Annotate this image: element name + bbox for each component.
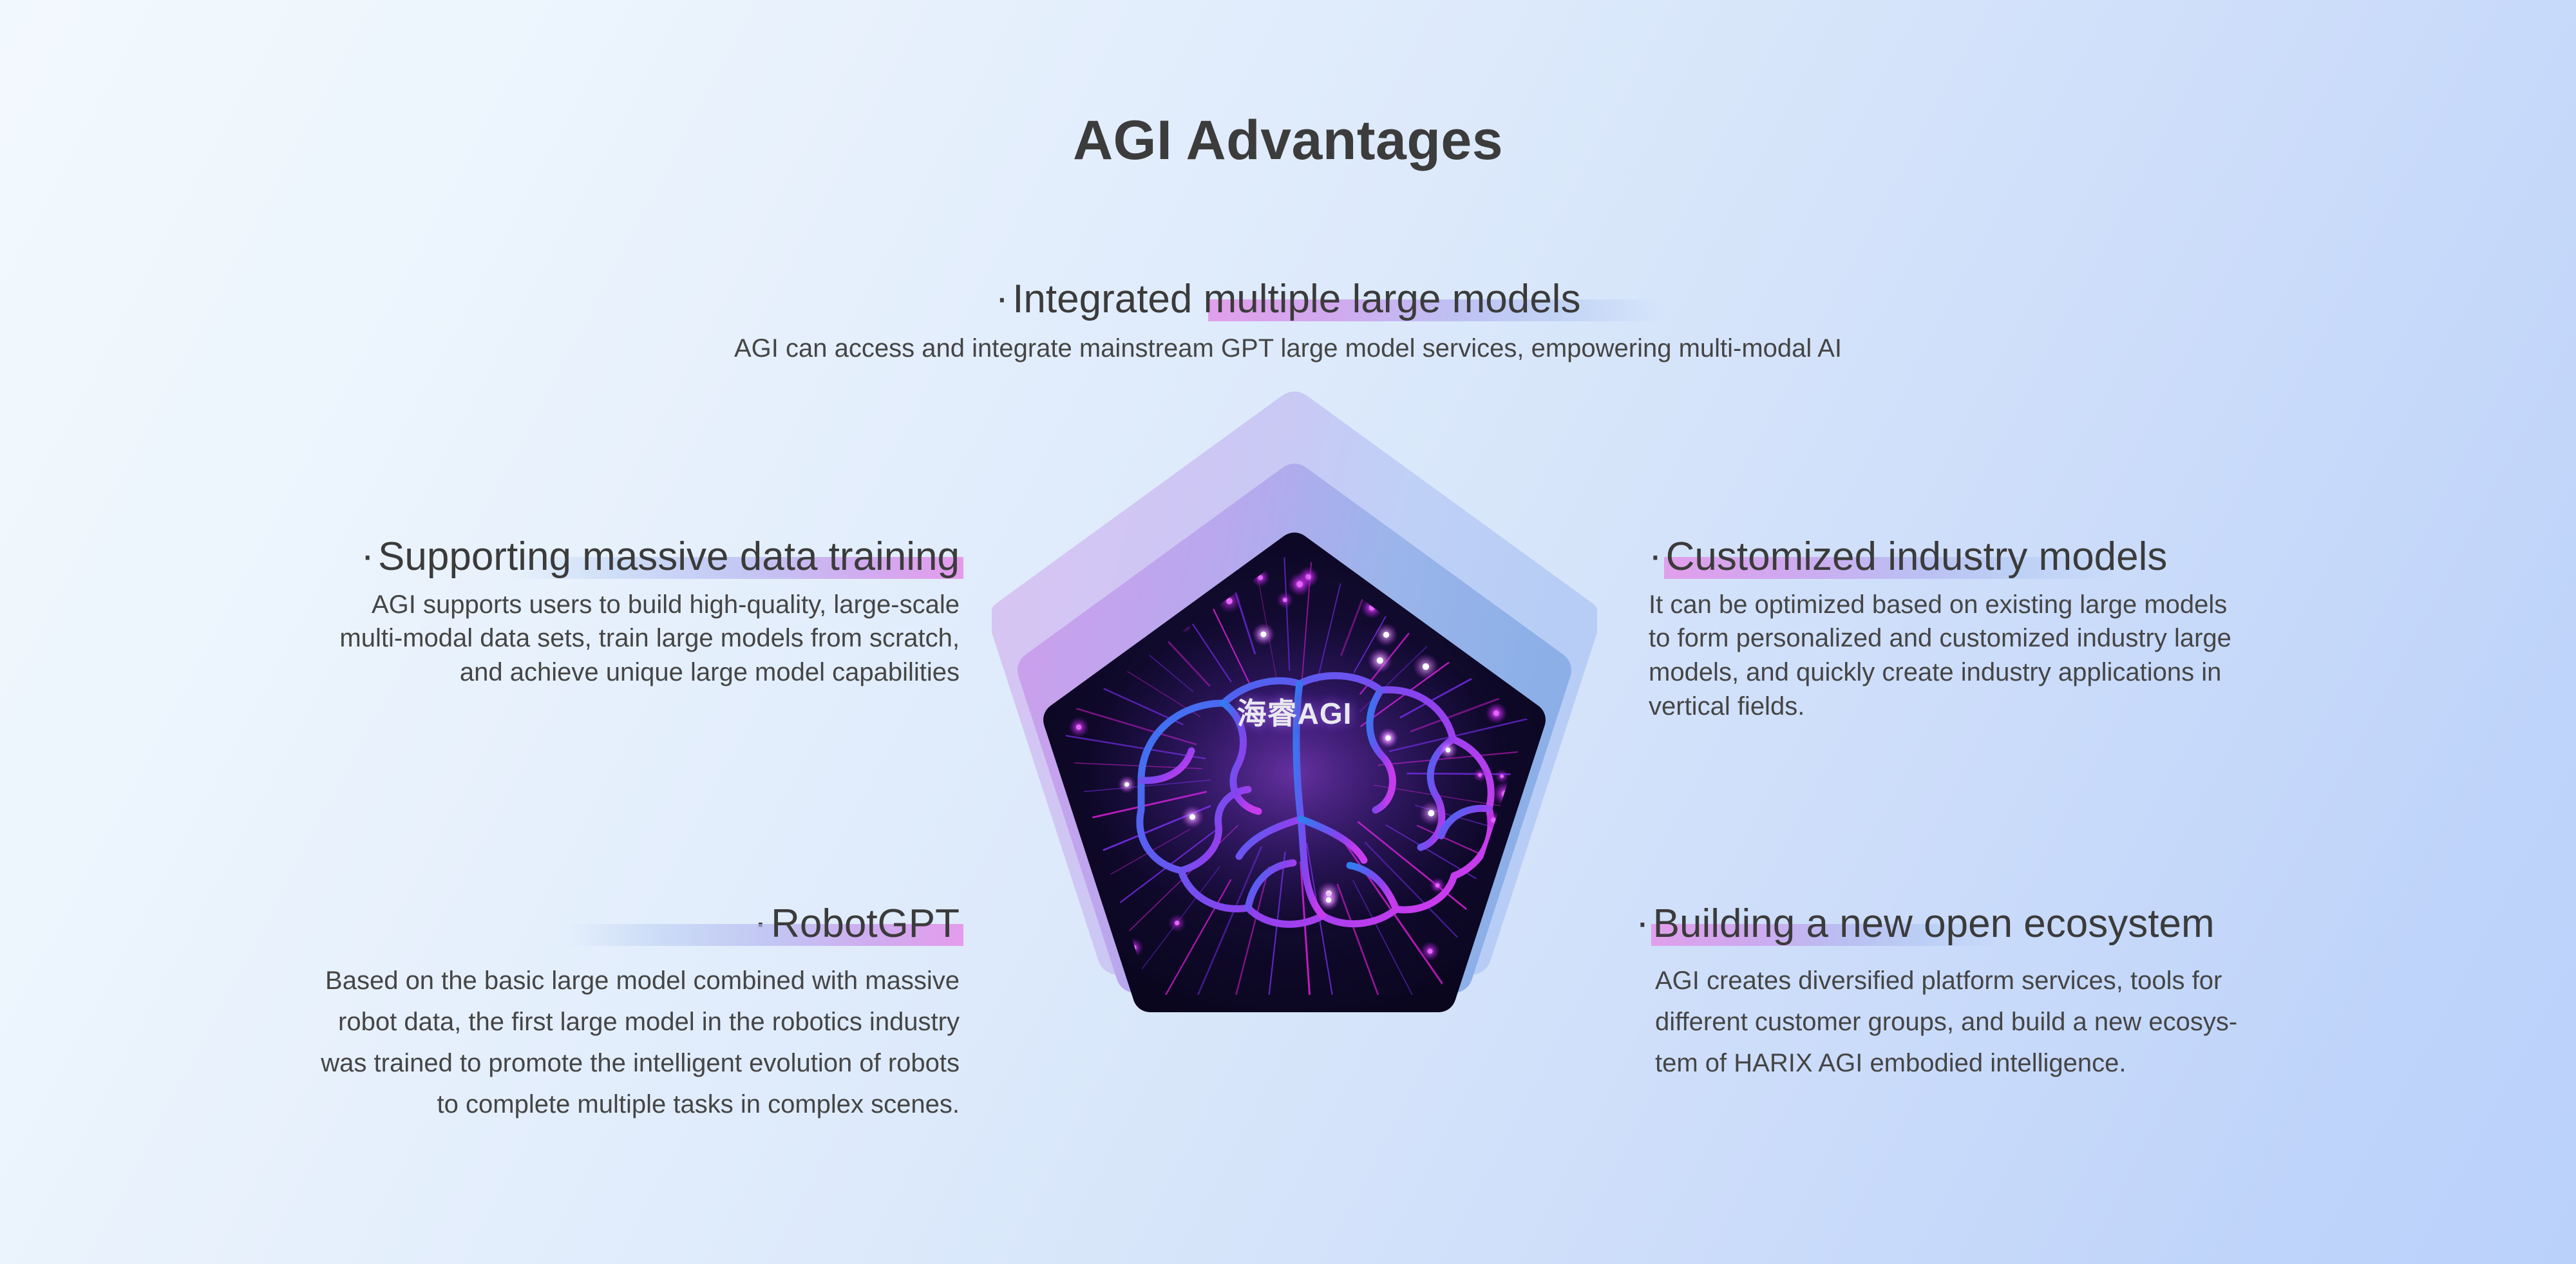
glow-dot bbox=[1023, 856, 1030, 863]
glow-dot bbox=[1326, 898, 1331, 903]
advantage-heading: ·RobotGPT bbox=[753, 901, 960, 947]
advantage-body-text: AGI can access and integrate mainstream … bbox=[0, 332, 2576, 366]
glow-dot bbox=[1124, 782, 1129, 787]
advantage-block-integrated-multiple-large-models: ·Integrated multiple large models AGI ca… bbox=[0, 277, 2576, 365]
glow-dot-halo bbox=[1265, 1010, 1288, 1033]
glow-dot bbox=[1277, 1058, 1283, 1064]
bullet-icon: · bbox=[361, 536, 374, 576]
glow-dot bbox=[1190, 1055, 1195, 1059]
glow-dot bbox=[1222, 1050, 1227, 1055]
glow-dot bbox=[1260, 632, 1266, 637]
advantage-body-text: It can be optimized based on existing la… bbox=[1649, 588, 2550, 724]
glow-dot bbox=[1076, 724, 1081, 730]
glow-dot bbox=[1532, 916, 1539, 923]
glow-dot bbox=[1258, 575, 1263, 580]
bullet-icon: · bbox=[1636, 903, 1649, 943]
glow-dot bbox=[1385, 735, 1390, 740]
page-title: AGI Advantages bbox=[0, 113, 2576, 168]
glow-dot bbox=[1506, 969, 1512, 975]
glow-dot bbox=[1423, 663, 1429, 670]
advantage-heading-text: Integrated multiple large models bbox=[1012, 277, 1580, 321]
glow-dot bbox=[1032, 948, 1036, 953]
pentagon-brain-illustration bbox=[992, 386, 1597, 1101]
glow-dot bbox=[1274, 1018, 1280, 1024]
bullet-icon: · bbox=[996, 278, 1009, 318]
glow-dot-halo bbox=[1524, 873, 1539, 887]
glow-dot bbox=[1383, 632, 1389, 637]
advantage-body-text: AGI creates diversified platform service… bbox=[1636, 960, 2550, 1084]
glow-dot-halo bbox=[1184, 1048, 1202, 1066]
advantage-body-text: AGI supports users to build high-quality… bbox=[39, 588, 960, 690]
glow-dot bbox=[1166, 474, 1170, 478]
glow-dot bbox=[1296, 581, 1303, 588]
glow-dot-halo bbox=[1007, 865, 1032, 890]
glow-dot-halo bbox=[1025, 942, 1043, 959]
glow-dot-halo bbox=[1498, 961, 1520, 983]
glow-dot bbox=[999, 810, 1004, 815]
glow-dot-halo bbox=[1523, 907, 1548, 932]
glow-dot-halo bbox=[1024, 904, 1039, 920]
glow-dot-halo bbox=[1205, 1021, 1227, 1043]
bullet-icon: · bbox=[753, 903, 767, 943]
bullet-icon: · bbox=[1649, 536, 1662, 576]
glow-dot bbox=[1530, 988, 1535, 993]
glow-dot bbox=[1016, 874, 1023, 880]
glow-dot-halo bbox=[1522, 980, 1543, 1001]
glow-dot bbox=[1428, 810, 1434, 816]
glow-dot bbox=[1095, 513, 1101, 519]
glow-dot bbox=[1428, 948, 1433, 954]
glow-dot bbox=[1030, 910, 1034, 914]
glow-dot bbox=[1189, 814, 1195, 820]
advantage-heading-text: Building a new open ecosystem bbox=[1653, 901, 2215, 946]
glow-dot bbox=[1175, 921, 1179, 925]
glow-dot-halo bbox=[1096, 975, 1113, 992]
glow-dot-halo bbox=[1269, 1050, 1292, 1073]
advantage-block-robotgpt: ·RobotGPT Based on the basic large model… bbox=[39, 901, 960, 1125]
glow-dot bbox=[1027, 758, 1032, 764]
glow-dot bbox=[1586, 677, 1592, 684]
advantage-heading: ·Supporting massive data training bbox=[361, 534, 960, 580]
advantage-heading-text: RobotGPT bbox=[771, 901, 960, 946]
glow-dot bbox=[1377, 657, 1383, 664]
glow-dot-halo bbox=[992, 802, 1011, 822]
glow-dot bbox=[1383, 1042, 1388, 1048]
glow-dot-halo bbox=[1014, 847, 1039, 872]
advantage-body-text: Based on the basic large model combined … bbox=[39, 960, 960, 1125]
glow-dot bbox=[1478, 773, 1482, 777]
glow-dot bbox=[1446, 748, 1451, 753]
glow-dot bbox=[1526, 871, 1533, 878]
glow-dot-halo bbox=[1214, 1042, 1235, 1064]
glow-dot bbox=[1450, 488, 1457, 495]
advantage-heading: ·Integrated multiple large models bbox=[996, 277, 1581, 323]
advantage-heading-text: Supporting massive data training bbox=[378, 534, 960, 579]
agi-pentagon-graphic: 海睿AGI bbox=[992, 386, 1597, 1101]
advantage-block-supporting-massive-data-training: ·Supporting massive data training AGI su… bbox=[39, 534, 960, 690]
advantage-heading: ·Building a new open ecosystem bbox=[1636, 901, 2215, 947]
glow-dot bbox=[1226, 598, 1233, 605]
glow-dot bbox=[1500, 775, 1504, 778]
glow-dot bbox=[1493, 710, 1499, 716]
advantage-block-customized-industry-models: ·Customized industry models It can be op… bbox=[1649, 534, 2550, 724]
advantage-heading-text: Customized industry models bbox=[1666, 534, 2168, 579]
glow-dot bbox=[1103, 981, 1107, 986]
glow-dot bbox=[1529, 878, 1533, 882]
glow-dot bbox=[1213, 1030, 1219, 1035]
advantage-heading: ·Customized industry models bbox=[1649, 534, 2167, 580]
advantage-block-building-a-new-open-ecosystem: ·Building a new open ecosystem AGI creat… bbox=[1636, 901, 2550, 1084]
glow-dot bbox=[1283, 598, 1287, 602]
glow-dot bbox=[1435, 883, 1439, 887]
glow-dot-halo bbox=[1374, 1033, 1397, 1057]
